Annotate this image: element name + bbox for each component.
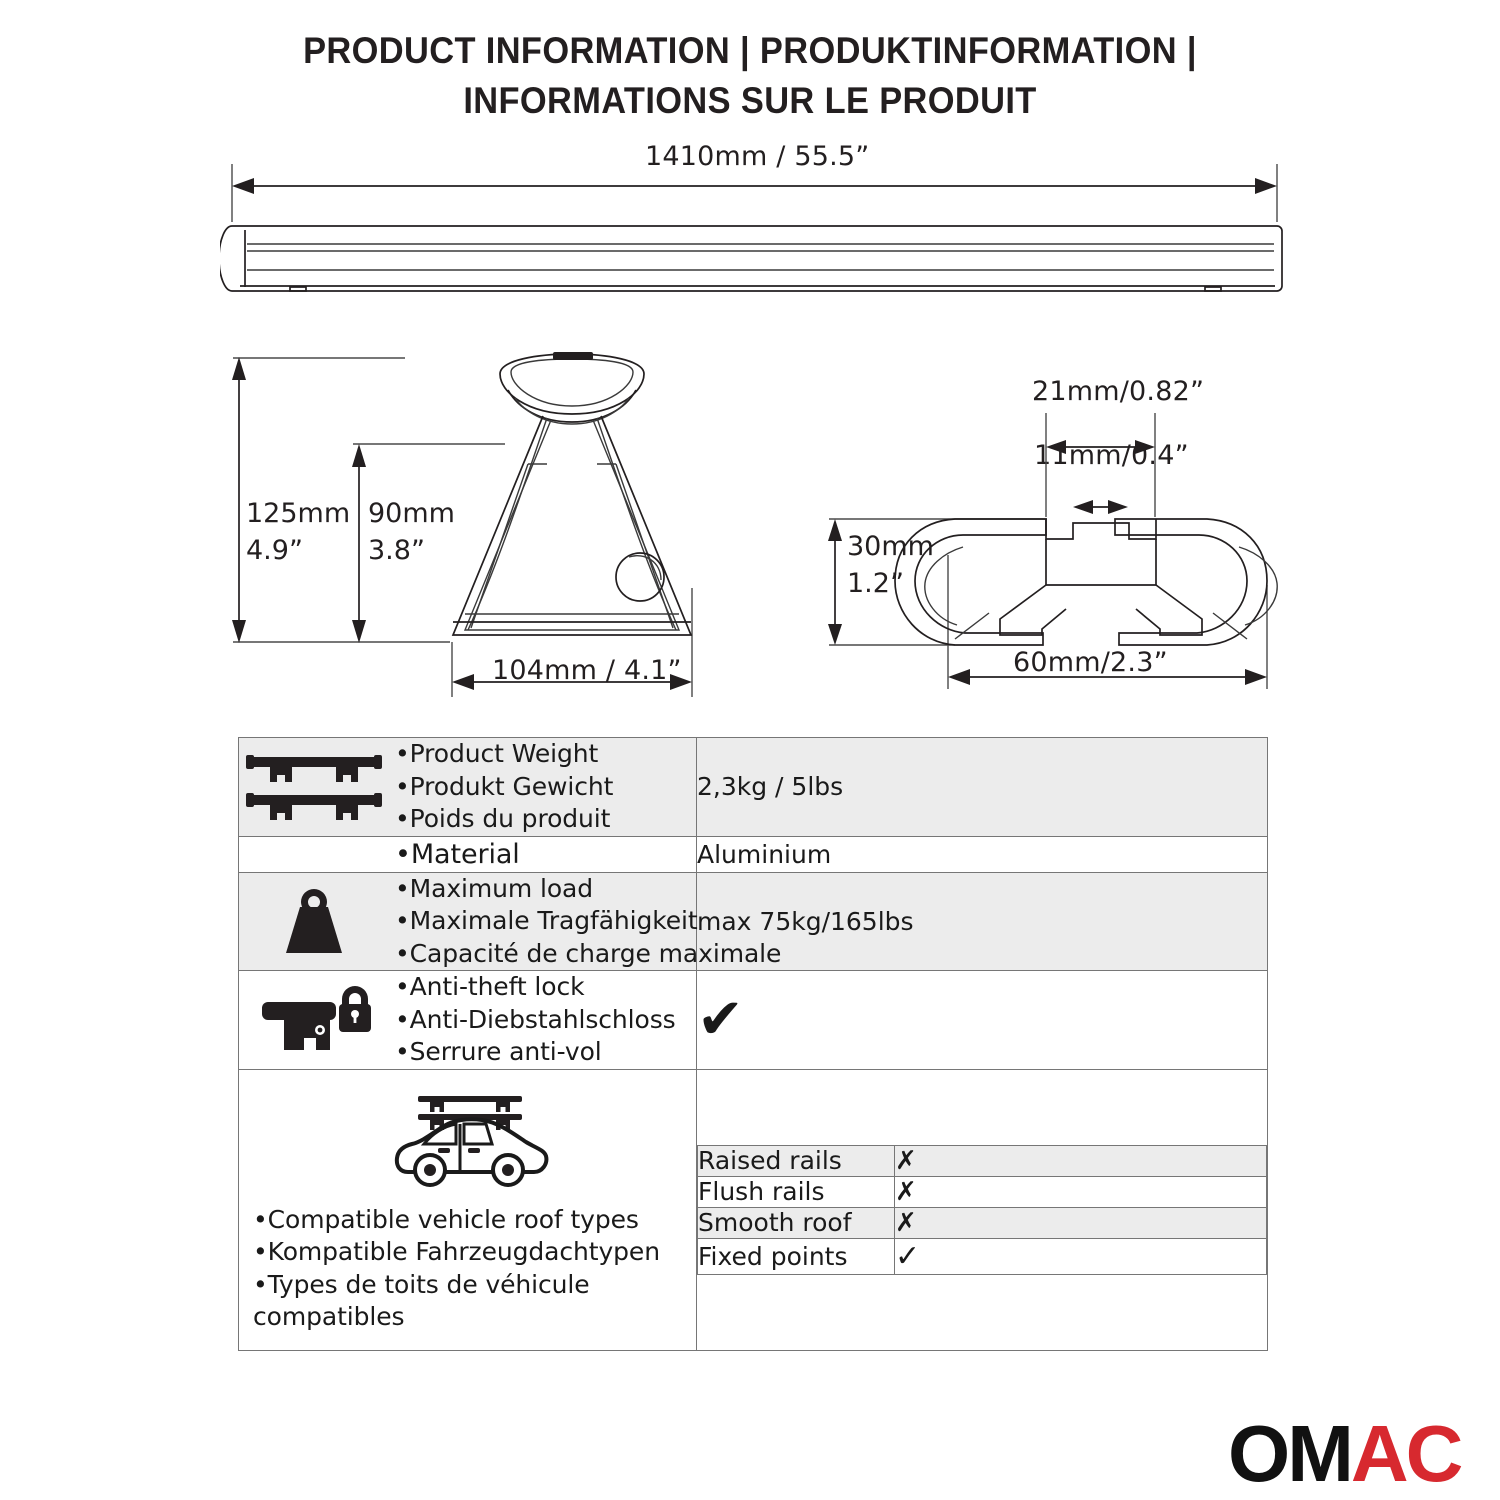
roof-type-row-raised-rails: Raised rails ✗ <box>698 1145 1267 1176</box>
roof-type-row-fixed-points: Fixed points ✓ <box>698 1238 1267 1274</box>
page-title-line-1: PRODUCT INFORMATION | PRODUKTINFORMATION… <box>53 26 1448 76</box>
row-value-anti-theft-lock: ✔ <box>697 971 1268 1070</box>
roof-type-name: Flush rails <box>698 1176 895 1207</box>
label-line: •Types de toits de véhicule compatibles <box>253 1269 673 1334</box>
label-line: •Serrure anti-vol <box>395 1036 676 1069</box>
table-row-anti-theft-lock: •Anti-theft lock •Anti-Diebstahlschloss … <box>239 971 1268 1070</box>
row-value-product-weight: 2,3kg / 5lbs <box>697 738 1268 837</box>
row-label-text-roof-types: •Compatible vehicle roof types •Kompatib… <box>253 1204 673 1334</box>
row-value-maximum-load: max 75kg/165lbs <box>697 872 1268 971</box>
label-line: •Material <box>395 837 520 872</box>
roof-type-name: Smooth roof <box>698 1207 895 1238</box>
omac-logo: OMAC <box>1228 1414 1460 1494</box>
roof-type-row-smooth-roof: Smooth roof ✗ <box>698 1207 1267 1238</box>
roof-type-mark: ✗ <box>895 1176 1267 1207</box>
roof-type-row-flush-rails: Flush rails ✗ <box>698 1176 1267 1207</box>
roof-rack-foot-drawing <box>225 352 705 702</box>
row-value-material: Aluminium <box>697 836 1268 872</box>
table-row-material: •Material Aluminium <box>239 836 1268 872</box>
row-label-maximum-load: •Maximum load •Maximale Tragfähigkeit •C… <box>239 872 697 971</box>
table-row-roof-types: •Compatible vehicle roof types •Kompatib… <box>239 1069 1268 1350</box>
row-label-material: •Material <box>239 836 697 872</box>
logo-text-ac: AC <box>1351 1409 1461 1498</box>
label-line: •Produkt Gewicht <box>395 771 613 804</box>
page-title: PRODUCT INFORMATION | PRODUKTINFORMATION… <box>53 26 1448 125</box>
roof-type-mark: ✗ <box>895 1207 1267 1238</box>
label-line: •Poids du produit <box>395 803 613 836</box>
label-line: •Anti-theft lock <box>395 971 676 1004</box>
cross-icon: ✗ <box>895 1177 917 1207</box>
car-roof-icon <box>386 1086 556 1198</box>
page-title-line-2: INFORMATIONS SUR LE PRODUIT <box>53 76 1448 126</box>
row-label-product-weight: •Product Weight •Produkt Gewicht •Poids … <box>239 738 697 837</box>
table-row-maximum-load: •Maximum load •Maximale Tragfähigkeit •C… <box>239 872 1268 971</box>
cross-icon: ✗ <box>895 1146 917 1176</box>
crossbar-length-drawing <box>220 160 1290 310</box>
label-line: •Anti-Diebstahlschloss <box>395 1004 676 1037</box>
roof-type-name: Fixed points <box>698 1238 895 1274</box>
weight-icon <box>239 881 389 961</box>
roof-type-name: Raised rails <box>698 1145 895 1176</box>
label-line: •Compatible vehicle roof types <box>253 1204 673 1237</box>
roof-type-compatibility-subtable: Raised rails ✗ Flush rails ✗ <box>697 1069 1268 1350</box>
row-label-roof-types: •Compatible vehicle roof types •Kompatib… <box>239 1069 697 1350</box>
label-line: •Capacité de charge maximale <box>395 938 781 971</box>
row-label-text-product-weight: •Product Weight •Produkt Gewicht •Poids … <box>395 738 613 836</box>
roof-type-mark: ✓ <box>895 1238 1267 1274</box>
row-label-text-anti-theft-lock: •Anti-theft lock •Anti-Diebstahlschloss … <box>395 971 676 1069</box>
checkmark-icon: ✓ <box>895 1239 920 1274</box>
cross-icon: ✗ <box>895 1208 917 1238</box>
table-row-product-weight: •Product Weight •Produkt Gewicht •Poids … <box>239 738 1268 837</box>
lock-icon <box>239 980 389 1060</box>
roof-type-mark: ✗ <box>895 1145 1267 1176</box>
label-line: •Product Weight <box>395 738 613 771</box>
label-line: •Maximum load <box>395 873 781 906</box>
logo-text-om: OM <box>1228 1409 1351 1498</box>
checkmark-icon: ✔ <box>697 987 744 1052</box>
product-spec-table: •Product Weight •Produkt Gewicht •Poids … <box>238 737 1268 1351</box>
crossbars-icon <box>239 751 389 823</box>
label-line: •Kompatible Fahrzeugdachtypen <box>253 1236 673 1269</box>
row-label-anti-theft-lock: •Anti-theft lock •Anti-Diebstahlschloss … <box>239 971 697 1070</box>
crossbar-profile-cross-section <box>815 395 1295 695</box>
